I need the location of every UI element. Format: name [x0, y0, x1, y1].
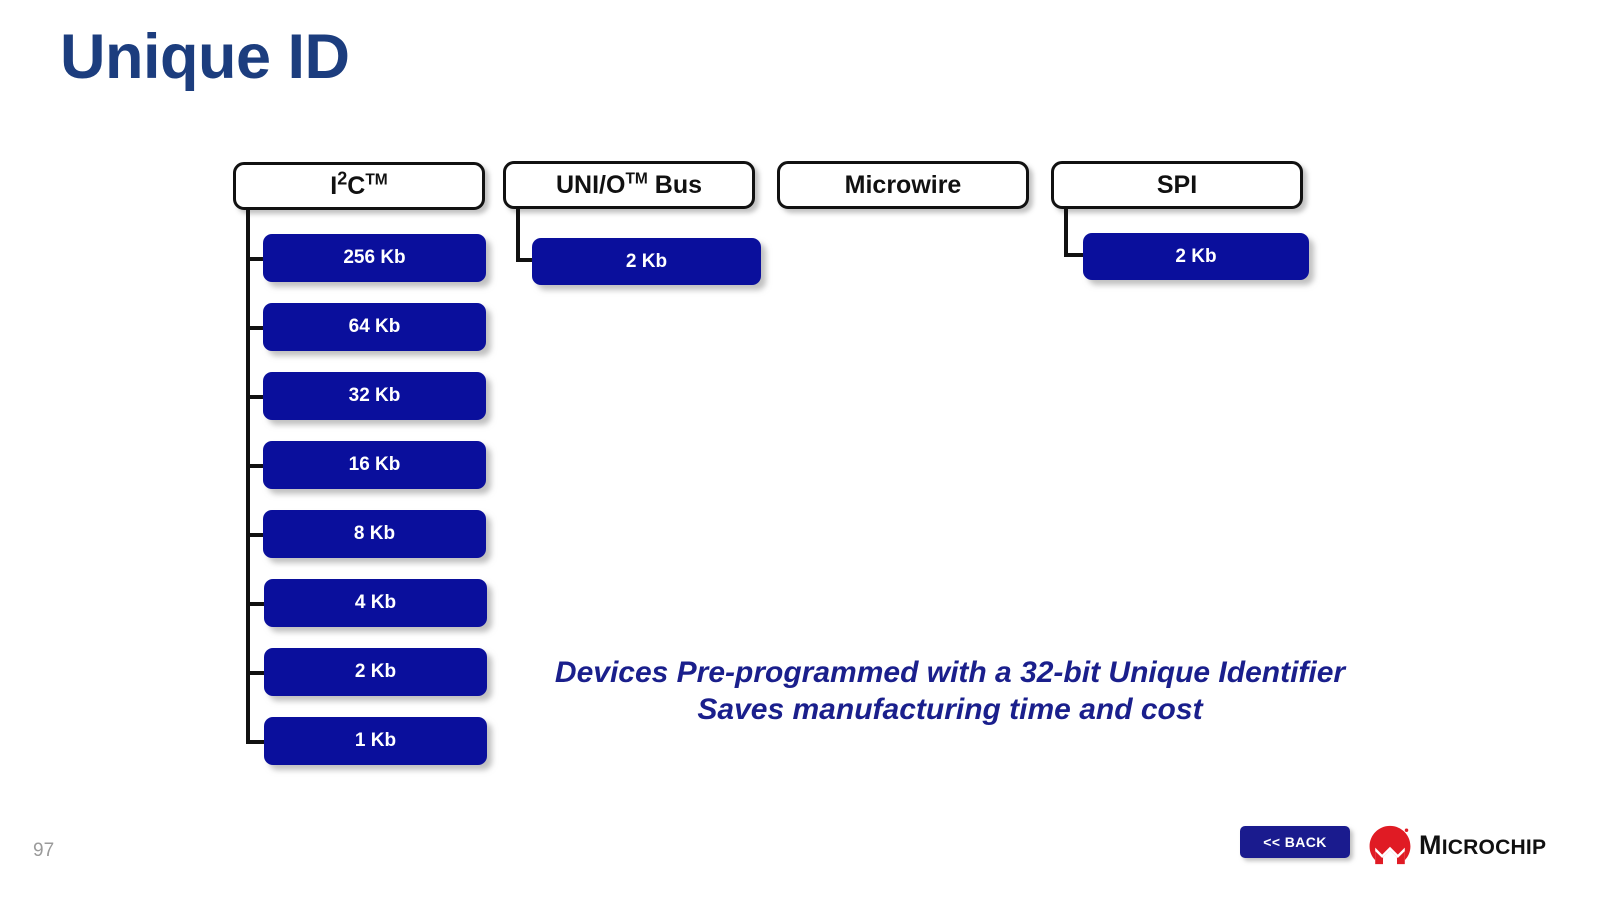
density-box[interactable]: 256 Kb	[263, 234, 486, 282]
protocol-header-i2c-label: I2CTM	[330, 172, 387, 201]
back-button-label: << BACK	[1263, 834, 1326, 850]
trademark-icon: TM	[365, 171, 387, 188]
i2c-text-mid: C	[347, 172, 365, 200]
protocol-header-spi-label: SPI	[1157, 171, 1197, 200]
density-box[interactable]: 2 Kb	[1083, 233, 1309, 280]
unio-text-prefix: UNI/O	[556, 171, 625, 199]
connector-trunk-spi	[1064, 207, 1068, 257]
trademark-icon: TM	[625, 170, 647, 187]
brand-wordmark-rest: ICROCHIP	[1442, 836, 1547, 859]
back-button[interactable]: << BACK	[1240, 826, 1350, 858]
density-box[interactable]: 2 Kb	[532, 238, 761, 285]
caption-line-2: Saves manufacturing time and cost	[430, 692, 1470, 729]
connector-trunk-unio	[516, 207, 520, 262]
density-box[interactable]: 64 Kb	[263, 303, 486, 351]
caption-line-1: Devices Pre-programmed with a 32-bit Uni…	[430, 655, 1470, 692]
unio-text-suffix: Bus	[648, 171, 702, 199]
protocol-header-microwire[interactable]: Microwire	[777, 161, 1029, 209]
i2c-superscript-2: 2	[337, 168, 347, 188]
protocol-header-i2c[interactable]: I2CTM	[233, 162, 485, 210]
protocol-density-diagram: I2CTM 256 Kb 64 Kb 32 Kb 16 Kb 8 Kb 4 Kb…	[0, 0, 1600, 900]
microchip-logo-icon	[1368, 825, 1412, 865]
protocol-header-unio[interactable]: UNI/OTM Bus	[503, 161, 755, 209]
protocol-header-unio-label: UNI/OTM Bus	[556, 171, 702, 200]
connector-trunk-i2c	[246, 208, 250, 743]
density-box[interactable]: 16 Kb	[263, 441, 486, 489]
brand-logo: MICROCHIP	[1368, 824, 1546, 866]
protocol-header-spi[interactable]: SPI	[1051, 161, 1303, 209]
page-number: 97	[33, 840, 54, 862]
brand-wordmark-initial: M	[1419, 830, 1442, 860]
density-box[interactable]: 8 Kb	[263, 510, 486, 558]
caption: Devices Pre-programmed with a 32-bit Uni…	[430, 655, 1470, 728]
brand-wordmark: MICROCHIP	[1419, 832, 1546, 859]
protocol-header-microwire-label: Microwire	[845, 171, 962, 200]
density-box[interactable]: 32 Kb	[263, 372, 486, 420]
density-box[interactable]: 4 Kb	[264, 579, 487, 627]
